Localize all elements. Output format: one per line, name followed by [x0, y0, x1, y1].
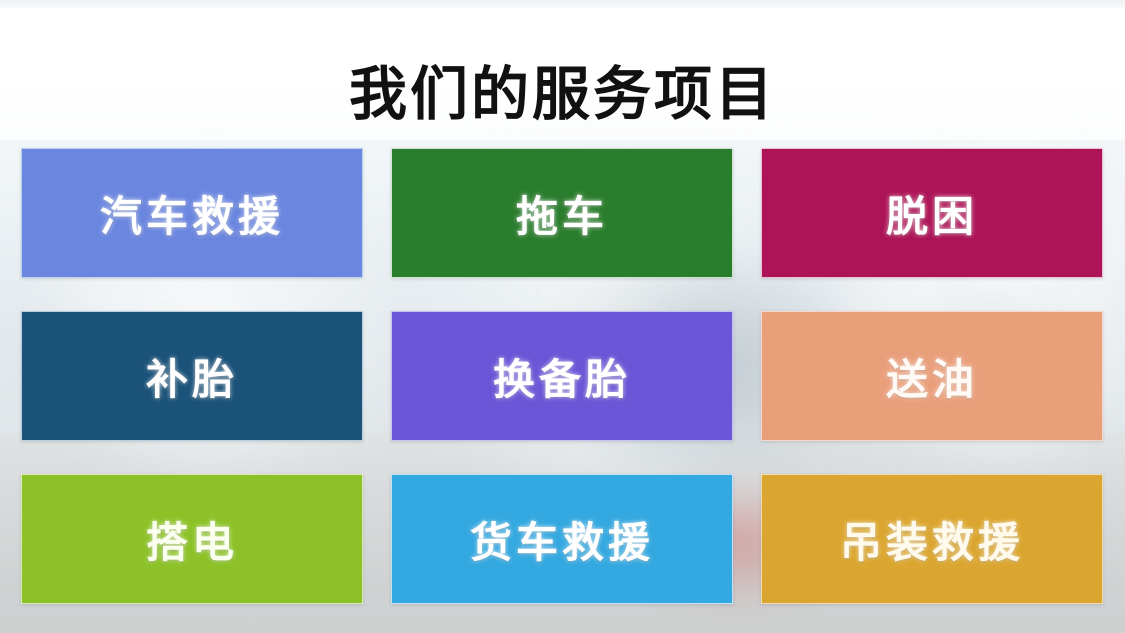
service-tile-label: 货车救援	[470, 509, 654, 570]
service-tile-fuel-delivery[interactable]: 送油	[761, 311, 1103, 441]
service-tile-label: 搭电	[146, 509, 238, 570]
service-tile-car-rescue[interactable]: 汽车救援	[21, 148, 363, 278]
page-title: 我们的服务项目	[0, 61, 1125, 129]
poster-content: 我们的服务项目 汽车救援拖车脱困补胎换备胎送油搭电货车救援吊装救援	[0, 0, 1125, 633]
service-poster: 我们的服务项目 汽车救援拖车脱困补胎换备胎送油搭电货车救援吊装救援	[0, 0, 1125, 633]
service-tile-extrication[interactable]: 脱困	[761, 148, 1103, 278]
service-tile-label: 补胎	[146, 346, 238, 407]
service-tile-jump-start[interactable]: 搭电	[21, 474, 363, 604]
service-tile-label: 换备胎	[493, 346, 631, 407]
service-tile-truck-rescue[interactable]: 货车救援	[391, 474, 733, 604]
service-tile-grid: 汽车救援拖车脱困补胎换备胎送油搭电货车救援吊装救援	[21, 148, 1104, 604]
service-tile-label: 脱困	[886, 183, 978, 244]
service-tile-towing[interactable]: 拖车	[391, 148, 733, 278]
service-tile-crane-rescue[interactable]: 吊装救援	[761, 474, 1103, 604]
service-tile-label: 送油	[886, 346, 978, 407]
service-tile-label: 吊装救援	[840, 509, 1024, 570]
service-tile-label: 拖车	[516, 183, 608, 244]
service-tile-tire-repair[interactable]: 补胎	[21, 311, 363, 441]
service-tile-label: 汽车救援	[100, 183, 284, 244]
service-tile-spare-tire-change[interactable]: 换备胎	[391, 311, 733, 441]
